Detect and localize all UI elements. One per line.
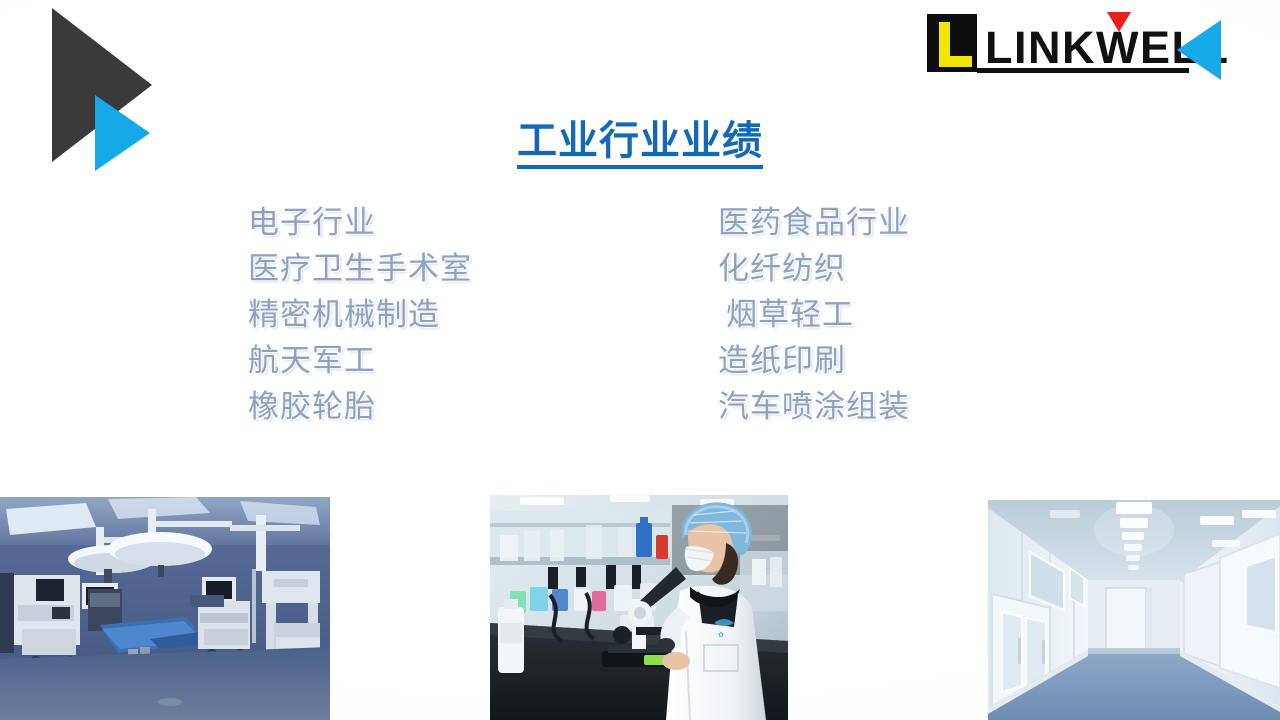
page-title: 工业行业业绩 bbox=[0, 118, 1280, 169]
list-item: 航天军工 bbox=[248, 338, 718, 384]
list-item: 电子行业 bbox=[248, 200, 718, 246]
industry-column-left: 电子行业 医疗卫生手术室 精密机械制造 航天军工 橡胶轮胎 bbox=[248, 200, 718, 430]
industry-lists: 电子行业 医疗卫生手术室 精密机械制造 航天军工 橡胶轮胎 医药食品行业 化纤纺… bbox=[248, 200, 1008, 430]
operating-room-photo bbox=[0, 497, 330, 720]
list-item: 化纤纺织 bbox=[718, 246, 1008, 292]
logo-underline bbox=[977, 68, 1189, 73]
list-item: 造纸印刷 bbox=[718, 338, 1008, 384]
cleanroom-corridor-photo bbox=[988, 500, 1280, 720]
list-item: 橡胶轮胎 bbox=[248, 384, 718, 430]
list-item: 烟草轻工 bbox=[718, 292, 1008, 338]
linkwell-logo: LINKWELL bbox=[925, 6, 1245, 92]
slide-canvas: LINKWELL 工业行业业绩 电子行业 医疗卫生手术室 精密机械制造 航天军工… bbox=[0, 0, 1280, 720]
list-item: 医药食品行业 bbox=[718, 200, 1008, 246]
laboratory-photo: ✿ bbox=[490, 495, 788, 720]
page-title-text: 工业行业业绩 bbox=[517, 118, 763, 169]
industry-column-right: 医药食品行业 化纤纺织 烟草轻工 造纸印刷 汽车喷涂组装 bbox=[718, 200, 1008, 430]
list-item: 汽车喷涂组装 bbox=[718, 384, 1008, 430]
list-item: 精密机械制造 bbox=[248, 292, 718, 338]
svg-text:✿: ✿ bbox=[718, 631, 724, 639]
list-item: 医疗卫生手术室 bbox=[248, 246, 718, 292]
